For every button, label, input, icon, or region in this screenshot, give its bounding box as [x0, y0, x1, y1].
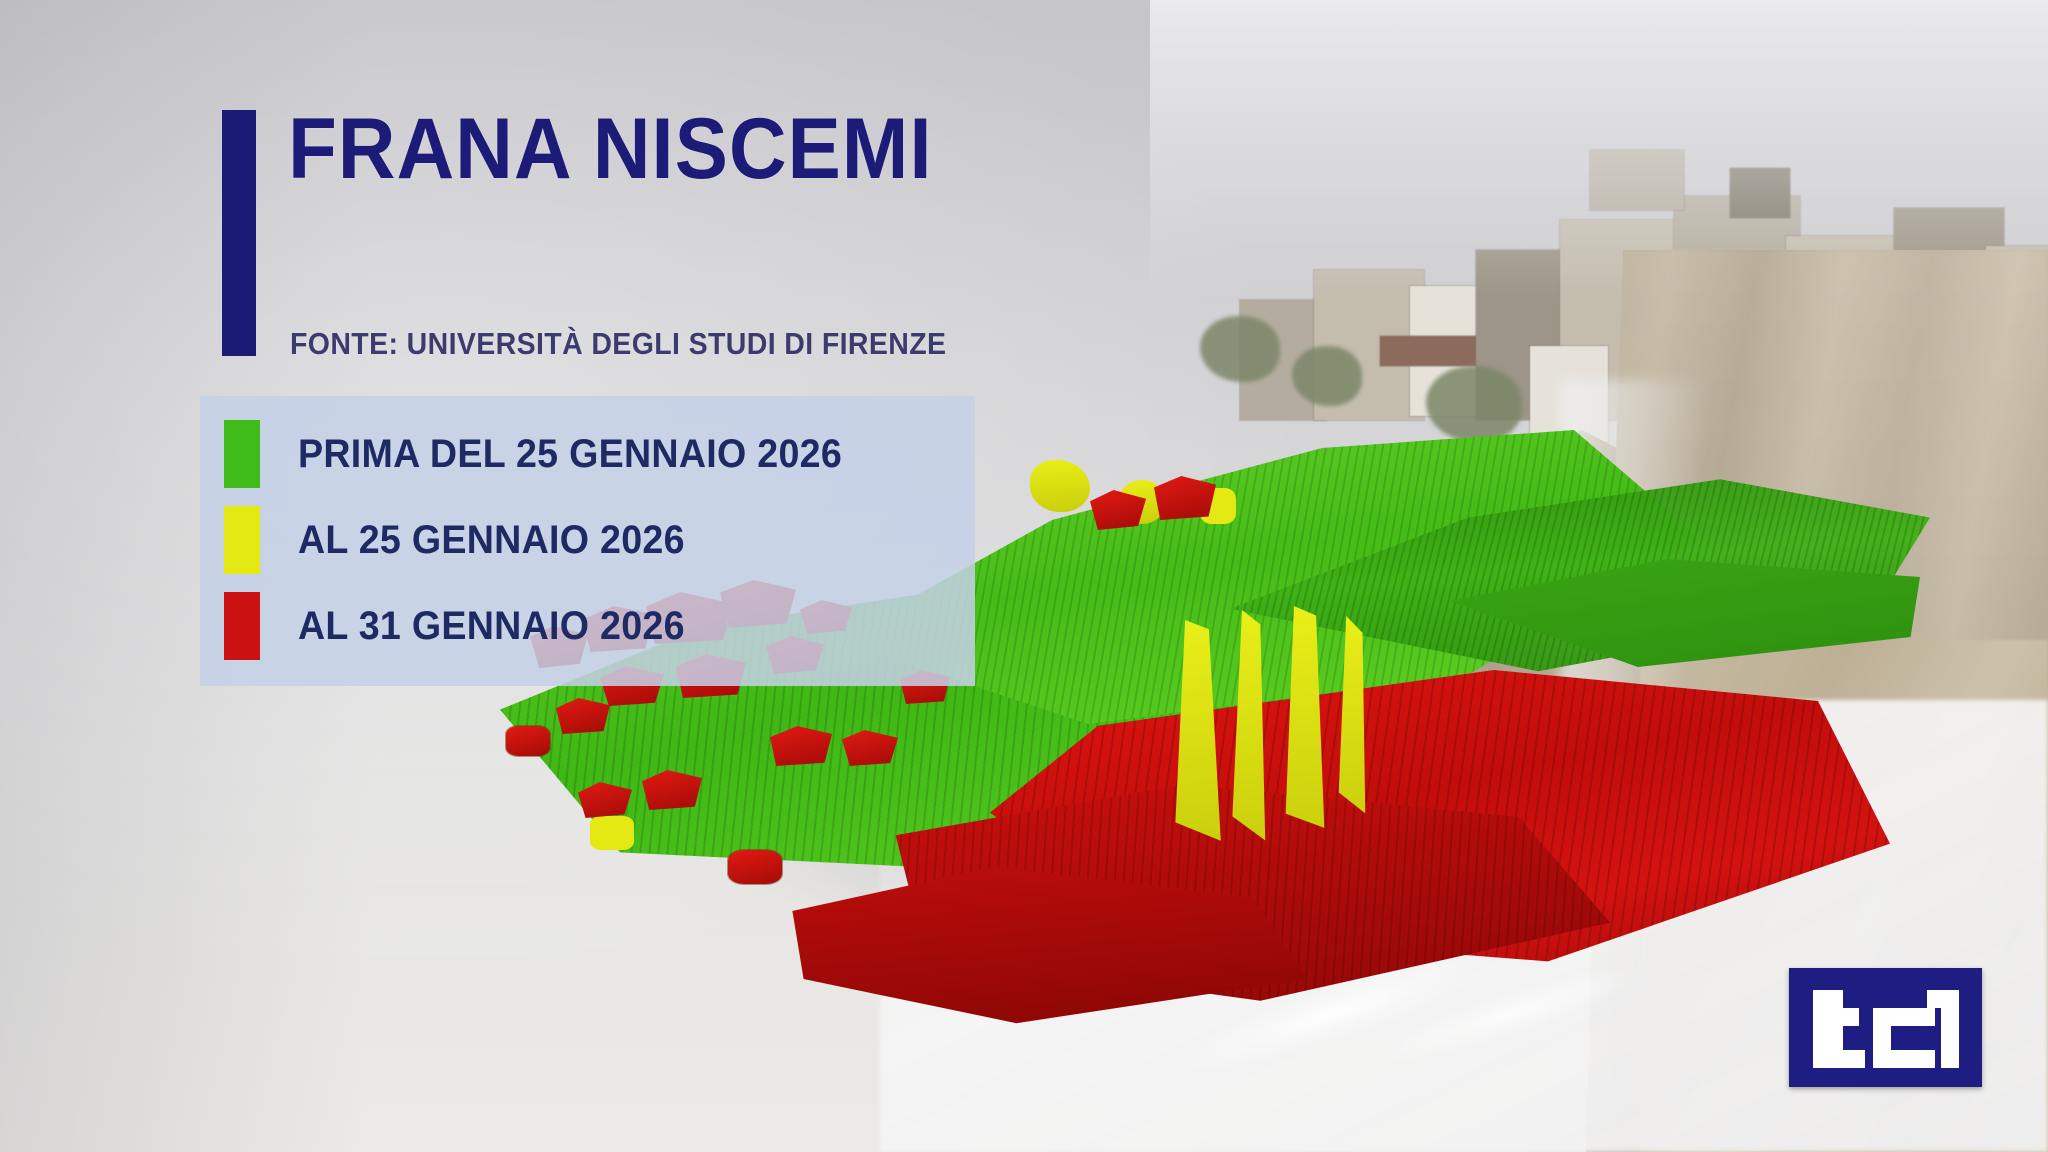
damage-block-17: [728, 850, 782, 884]
logo-letter-t: [1813, 990, 1865, 1068]
legend-swatch-yellow: [224, 506, 260, 574]
legend-label-31jan: AL 31 GENNAIO 2026: [298, 604, 685, 649]
legend-swatch-green: [224, 420, 260, 488]
accent-bar: [222, 110, 256, 356]
zone-25jan-block-2: [590, 816, 634, 850]
zone-25jan-streak-5: [1030, 460, 1090, 512]
legend-item-pre-event: PRIMA DEL 25 GENNAIO 2026: [224, 420, 877, 488]
legend-item-31jan: AL 31 GENNAIO 2026: [224, 592, 710, 660]
legend-label-pre-event: PRIMA DEL 25 GENNAIO 2026: [298, 432, 842, 477]
source-credit: FONTE: UNIVERSITÀ DEGLI STUDI DI FIRENZE: [290, 326, 946, 362]
broadcast-frame: FRANA NISCEMI FONTE: UNIVERSITÀ DEGLI ST…: [0, 0, 2048, 1152]
legend-item-25jan: AL 25 GENNAIO 2026: [224, 506, 710, 574]
page-title: FRANA NISCEMI: [288, 110, 933, 189]
damage-block-18: [506, 726, 550, 756]
legend-swatch-red: [224, 592, 260, 660]
damage-block-16: [1154, 476, 1216, 520]
headline-group: FRANA NISCEMI: [222, 110, 981, 356]
legend-panel: PRIMA DEL 25 GENNAIO 2026 AL 25 GENNAIO …: [200, 396, 975, 686]
legend-label-25jan: AL 25 GENNAIO 2026: [298, 518, 685, 563]
tg1-logo: [1789, 968, 1982, 1087]
